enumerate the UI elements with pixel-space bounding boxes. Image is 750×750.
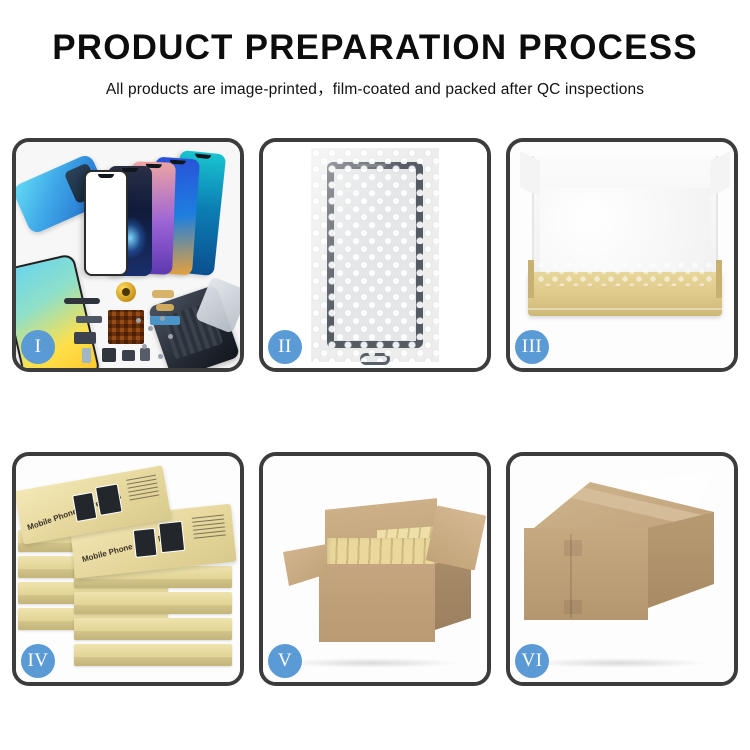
phone-thumbnail <box>95 483 123 516</box>
screw-icon <box>160 316 165 321</box>
header: PRODUCT PREPARATION PROCESS All products… <box>0 0 750 99</box>
open-shipping-carton <box>285 498 471 646</box>
flex-cable-c <box>74 332 96 344</box>
carton-tab-lower <box>564 600 582 614</box>
box-end-right <box>716 260 722 298</box>
step-badge-1: I <box>21 330 55 364</box>
box-side <box>74 631 232 640</box>
flex-cable-a <box>64 298 100 304</box>
drop-shadow <box>528 658 708 668</box>
steps-grid: I II <box>12 138 738 686</box>
step-panel-5: V <box>259 452 491 686</box>
phone-thumbnail <box>158 521 185 553</box>
flex-cable-b <box>76 316 102 323</box>
speaker-icon <box>116 282 136 302</box>
gold-connector-a <box>152 290 174 298</box>
kraft-box-layer <box>74 618 232 640</box>
step-panel-1: I <box>12 138 244 372</box>
screw-icon <box>158 354 163 359</box>
carton-front-face <box>319 564 435 642</box>
carton-front-face <box>524 528 648 620</box>
phone-thumbnail <box>72 492 97 522</box>
screws-group <box>134 314 182 368</box>
box-flap-right <box>710 151 730 197</box>
bubble-wrapped-screen <box>311 148 439 362</box>
phone-screen-fan <box>78 152 238 282</box>
screw-icon <box>168 334 173 339</box>
step-badge-6: VI <box>515 644 549 678</box>
kraft-box-tray <box>528 272 722 316</box>
box-spec-lines <box>126 475 160 504</box>
step-badge-5: V <box>268 644 302 678</box>
product-preparation-infographic: PRODUCT PREPARATION PROCESS All products… <box>0 0 750 750</box>
screw-icon <box>148 326 153 331</box>
step-panel-4: Mobile Phone Spare Parts Mobile Phone Sp… <box>12 452 244 686</box>
stacked-kraft-boxes: Mobile Phone Spare Parts Mobile Phone Sp… <box>16 470 240 674</box>
carton-side-face <box>648 512 714 608</box>
phone-thumbnail <box>133 528 158 558</box>
plastic-sheen <box>311 148 439 362</box>
box-lip <box>528 308 722 310</box>
step-badge-3: III <box>515 330 549 364</box>
page-subtitle: All products are image-printed，film-coat… <box>0 77 750 99</box>
gold-connector-b <box>156 304 174 311</box>
box-side <box>74 657 232 666</box>
notch-icon <box>98 174 114 178</box>
phone-screen-white <box>84 170 128 276</box>
sealed-shipping-carton <box>524 482 724 654</box>
step-badge-4: IV <box>21 644 55 678</box>
step-panel-2: II <box>259 138 491 372</box>
kraft-box-layer <box>74 644 232 666</box>
kraft-box-layer <box>74 592 232 614</box>
drop-shadow <box>281 658 461 668</box>
step-badge-2: II <box>268 330 302 364</box>
page-title: PRODUCT PREPARATION PROCESS <box>0 30 750 67</box>
notch-icon <box>195 153 211 159</box>
box-end-left <box>528 260 534 298</box>
screw-icon <box>142 344 147 349</box>
screw-icon <box>136 318 141 323</box>
carton-tab-upper <box>564 540 582 556</box>
box-flap-left <box>520 151 540 197</box>
wrapped-screen-in-box <box>536 260 714 286</box>
component-j <box>82 348 91 363</box>
carton-flap-right <box>426 505 487 570</box>
box-side <box>74 605 232 614</box>
box-spec-lines <box>192 514 226 541</box>
step-panel-3: III <box>506 138 738 372</box>
box-side <box>74 579 232 588</box>
component-g <box>102 348 116 362</box>
step-panel-6: VI <box>506 452 738 686</box>
